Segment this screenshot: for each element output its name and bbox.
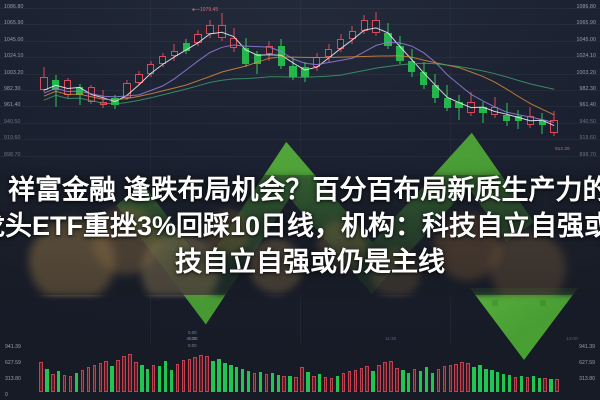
price-tick-label: 1086.80 [4,5,23,10]
volume-bar [253,373,256,392]
price-tick-label: 940.50 [580,120,596,125]
volume-bar [241,369,244,392]
volume-bar [223,363,226,392]
volume-bar [217,359,220,392]
volume-bar [478,365,481,392]
volume-bar [526,377,529,392]
price-tick-label: 961.40 [4,103,20,108]
volume-bar [543,378,546,392]
price-tick-label: 1024.10 [577,54,596,59]
time-tick-label: 11:30 [385,337,396,342]
volume-bar [318,374,321,392]
volume-bar [199,355,202,392]
price-tick-label: 982.30 [580,87,596,92]
volume-bar [360,368,363,392]
volume-bar [99,363,102,392]
volume-bar [365,366,368,392]
price-tick-label: 919.60 [580,136,596,141]
chart-info-box: 0.00 0.00 0.00 [188,330,197,349]
volume-bar [128,354,131,392]
price-tick-label: 1086.80 [577,5,596,10]
headline-line-1: 祥富金融 逢跌布局机会？百分百布局新质生产力的 [8,168,600,207]
volume-bar [288,376,291,392]
volume-bar [69,376,72,392]
volume-bar [300,367,303,392]
volume-bar [514,377,517,392]
headline-line-3: 技自立自强或仍是主线 [175,240,445,279]
volume-bar [466,363,469,392]
volume-bar [419,371,422,392]
volume-bar [472,367,475,392]
volume-bar [538,378,541,392]
volume-bar [306,372,309,392]
volume-bar [211,361,214,392]
price-tick-label: 919.60 [4,136,20,141]
volume-bar [271,373,274,392]
volume-tick-label: 627.59 [579,361,595,366]
volume-bar [57,371,60,392]
volume-bar [348,371,351,392]
volume-tick-label: 941.39 [579,345,595,350]
volume-bar [265,374,268,392]
volume-bar [193,357,196,392]
volume-bar [188,359,191,392]
volume-bar [235,367,238,392]
volume-bar [383,362,386,392]
volume-bar [134,362,137,392]
price-tick-label: 982.30 [4,87,20,92]
volume-bar [104,361,107,392]
volume-bar [330,378,333,392]
volume-tick-label: 0 [5,393,8,398]
volume-bar [51,374,54,392]
volume-bar [229,365,232,392]
volume-bar [389,361,392,392]
volume-bar [401,370,404,392]
headline-line-2: 龙头ETF重挫3%回踩10日线，机构：科技自立自强或仍 [0,204,600,243]
volume-bar [122,356,125,393]
price-tick-label: 1065.90 [577,21,596,26]
volume-tick-label: 941.39 [5,345,21,350]
volume-bar [277,375,280,392]
volume-bar [259,372,262,392]
volume-bar [532,376,535,392]
price-tick-label: 1003.20 [4,71,23,76]
volume-bar [152,365,155,392]
volume-bar [443,366,446,392]
volume-bar [45,369,48,392]
volume-bar [336,376,339,392]
volume-bar [87,367,90,392]
volume-bar [454,364,457,392]
volume-bar [146,369,149,392]
volume-bar [413,369,416,392]
volume-bar [205,356,208,392]
volume-bar [294,377,297,392]
volume-bar [437,369,440,392]
volume-bar [324,377,327,392]
time-tick-label: 14:00 [566,337,578,342]
volume-bar [520,376,523,392]
volume-bar [116,360,119,392]
price-tick-label: 961.40 [580,103,596,108]
volume-bar [377,365,380,392]
volume-bar [549,379,552,392]
volume-bar [354,370,357,393]
volume-tick-label: 313.80 [5,377,21,382]
volume-bar [282,376,285,392]
volume-bar [140,365,143,392]
price-tick-label: 898.70 [580,153,596,158]
volume-bar [484,369,487,392]
price-tick-label: 898.70 [4,153,20,158]
price-tick-label: 1065.90 [4,21,23,26]
volume-bar [555,379,558,392]
corner-price-annotation: 912.26 [555,147,570,152]
volume-bar [164,361,167,392]
volume-bar [81,370,84,392]
volume-bar [496,372,499,392]
volume-bar [93,365,96,392]
volume-bar [170,370,173,392]
peak-price-annotation: ●—1079.45 [192,8,218,13]
price-tick-label: 1003.20 [577,71,596,76]
volume-bar [63,375,66,392]
volume-bar [460,362,463,392]
price-tick-label: 1024.10 [4,54,23,59]
volume-bar [342,373,345,392]
volume-bar [407,373,410,392]
volume-tick-label: 313.80 [579,377,595,382]
volume-bar [182,360,185,392]
volume-bar [158,366,161,392]
volume-bar [502,374,505,392]
banner-image: 1086.801065.901045.001024.101003.20982.3… [0,0,600,400]
volume-bar [312,376,315,392]
volume-tick-label: 627.59 [5,361,21,366]
volume-bar [449,365,452,392]
volume-bar [490,370,493,392]
price-tick-label: 1045.00 [577,38,596,43]
volume-bar [75,373,78,392]
annotation-dash: ●— [192,7,200,13]
volume-bar [395,368,398,392]
price-tick-label: 1045.00 [4,38,23,43]
price-tick-label: 940.50 [4,120,20,125]
volume-bar [508,375,511,392]
volume-bar [431,373,434,392]
volume-bar [371,371,374,392]
volume-bar [425,367,428,392]
volume-bar [176,364,179,392]
volume-bar [110,366,113,392]
volume-bar [39,362,42,392]
volume-bar [247,371,250,392]
